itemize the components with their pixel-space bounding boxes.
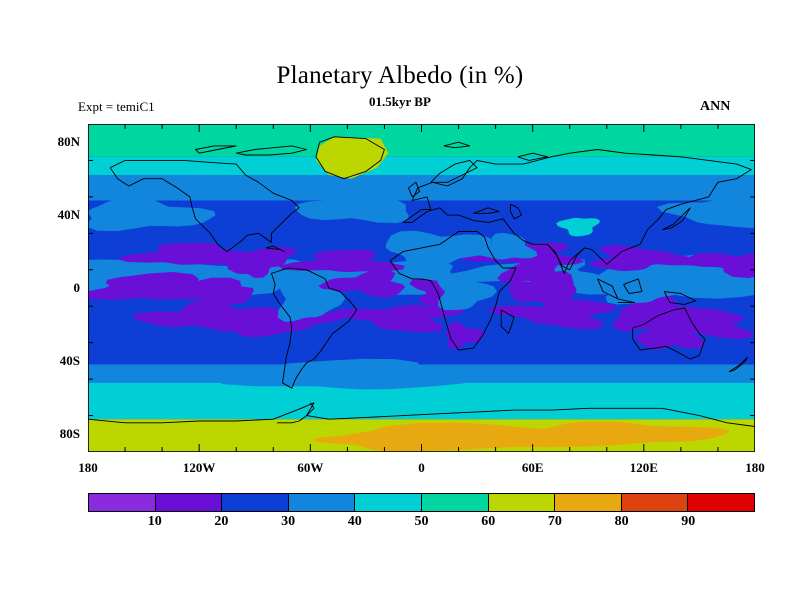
y-tick-label-40N: 40N: [36, 207, 80, 223]
colorbar-band-10to20[interactable]: [156, 494, 223, 511]
figure-canvas: Planetary Albedo (in %) 01.5kyr BP Expt …: [0, 0, 800, 600]
colorbar-band-40to50[interactable]: [355, 494, 422, 511]
colorbar-tick-30: 30: [268, 514, 308, 530]
page-title: Planetary Albedo (in %): [0, 62, 800, 90]
y-tick-label-0: 0: [36, 280, 80, 296]
colorbar[interactable]: [88, 493, 755, 512]
x-tick-label-120W: 120W: [164, 460, 234, 476]
colorbar-tick-10: 10: [135, 514, 175, 530]
albedo-map: [88, 124, 755, 452]
colorbar-tick-80: 80: [602, 514, 642, 530]
y-tick-label-80N: 80N: [36, 134, 80, 150]
experiment-label: Expt = temiC1: [78, 99, 155, 115]
colorbar-tick-60: 60: [468, 514, 508, 530]
x-tick-label-0: 0: [387, 460, 457, 476]
x-tick-label-60W: 60W: [275, 460, 345, 476]
colorbar-tick-50: 50: [402, 514, 442, 530]
y-tick-label-40S: 40S: [36, 353, 80, 369]
colorbar-band-30to40[interactable]: [289, 494, 356, 511]
y-tick-label-80S: 80S: [36, 426, 80, 442]
x-tick-label-60E: 60E: [498, 460, 568, 476]
colorbar-band-80to90[interactable]: [622, 494, 689, 511]
season-label: ANN: [700, 99, 730, 115]
colorbar-band-70to80[interactable]: [555, 494, 622, 511]
colorbar-band-60to70[interactable]: [489, 494, 556, 511]
colorbar-tick-20: 20: [201, 514, 241, 530]
colorbar-band-20to30[interactable]: [222, 494, 289, 511]
albedo-field: [88, 124, 755, 452]
x-tick-label-180: 180: [53, 460, 123, 476]
colorbar-band-90[interactable]: [688, 494, 754, 511]
colorbar-band-50to60[interactable]: [422, 494, 489, 511]
colorbar-band-10[interactable]: [89, 494, 156, 511]
x-tick-label-120E: 120E: [609, 460, 679, 476]
colorbar-tick-90: 90: [668, 514, 708, 530]
map-plot-area: [88, 124, 755, 452]
colorbar-tick-40: 40: [335, 514, 375, 530]
x-tick-label-180: 180: [720, 460, 790, 476]
colorbar-tick-70: 70: [535, 514, 575, 530]
